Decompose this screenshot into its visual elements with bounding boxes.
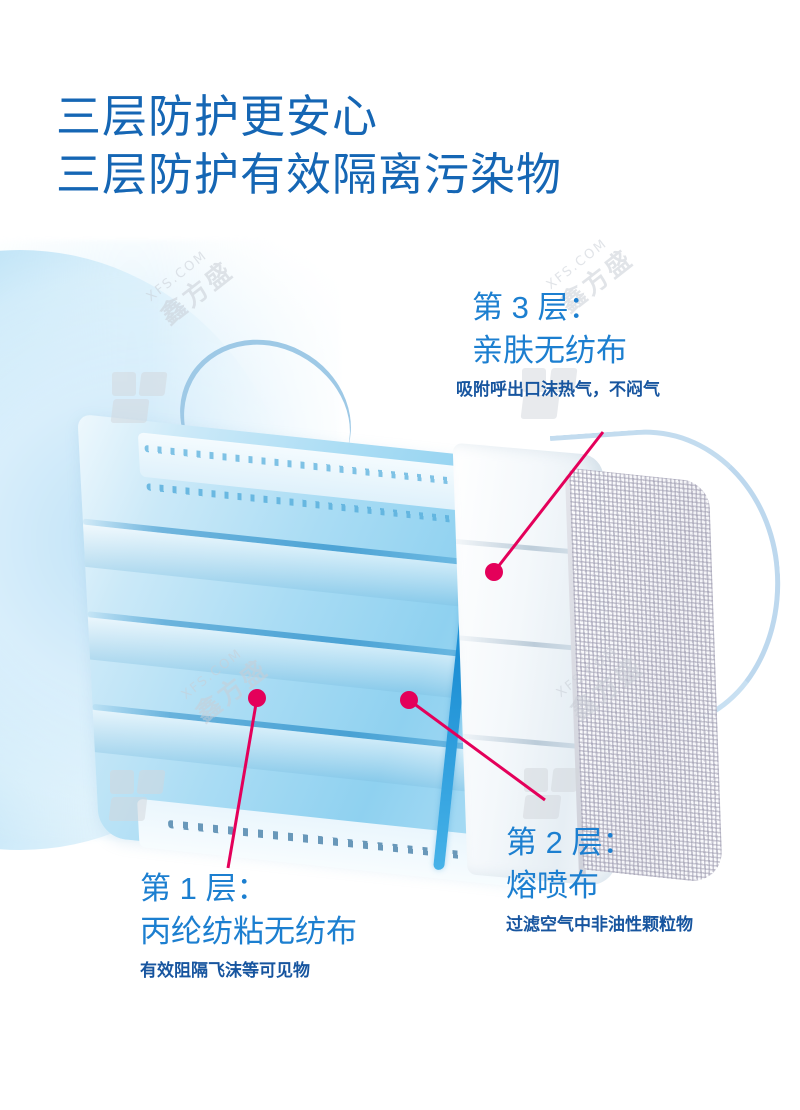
watermark-logo-icon xyxy=(112,372,168,424)
pleat-shade-1 xyxy=(83,525,515,613)
title-line-2: 三层防护有效隔离污染物 xyxy=(56,146,562,204)
callout-layer-3-name: 亲肤无纺布 xyxy=(472,329,660,373)
title-line-1: 三层防护更安心 xyxy=(56,88,562,146)
callout-layer-2-heading: 第 2 层： xyxy=(506,822,693,864)
callout-layer-3-heading: 第 3 层： xyxy=(472,287,660,329)
page-title: 三层防护更安心 三层防护有效隔离污染物 xyxy=(56,88,562,204)
watermark-logo-icon xyxy=(110,770,166,822)
callout-layer-2-desc: 过滤空气中非油性颗粒物 xyxy=(506,912,693,938)
callout-layer-1-desc: 有效阻隔飞沫等可见物 xyxy=(140,958,357,984)
callout-layer-1: 第 1 层： 丙纶纺粘无纺布 有效阻隔飞沫等可见物 xyxy=(140,868,357,984)
callout-layer-3-desc: 吸附呼出口沫热气，不闷气 xyxy=(456,377,660,403)
infographic-canvas: 三层防护更安心 三层防护有效隔离污染物 xyxy=(0,0,800,1110)
callout-layer-3: 第 3 层： 亲肤无纺布 吸附呼出口沫热气，不闷气 xyxy=(472,287,660,403)
callout-layer-2: 第 2 层： 熔喷布 过滤空气中非油性颗粒物 xyxy=(506,822,693,938)
callout-layer-1-name: 丙纶纺粘无纺布 xyxy=(140,910,357,954)
callout-layer-2-name: 熔喷布 xyxy=(506,864,693,908)
watermark-logo-icon xyxy=(524,768,580,820)
callout-layer-1-heading: 第 1 层： xyxy=(140,868,357,910)
